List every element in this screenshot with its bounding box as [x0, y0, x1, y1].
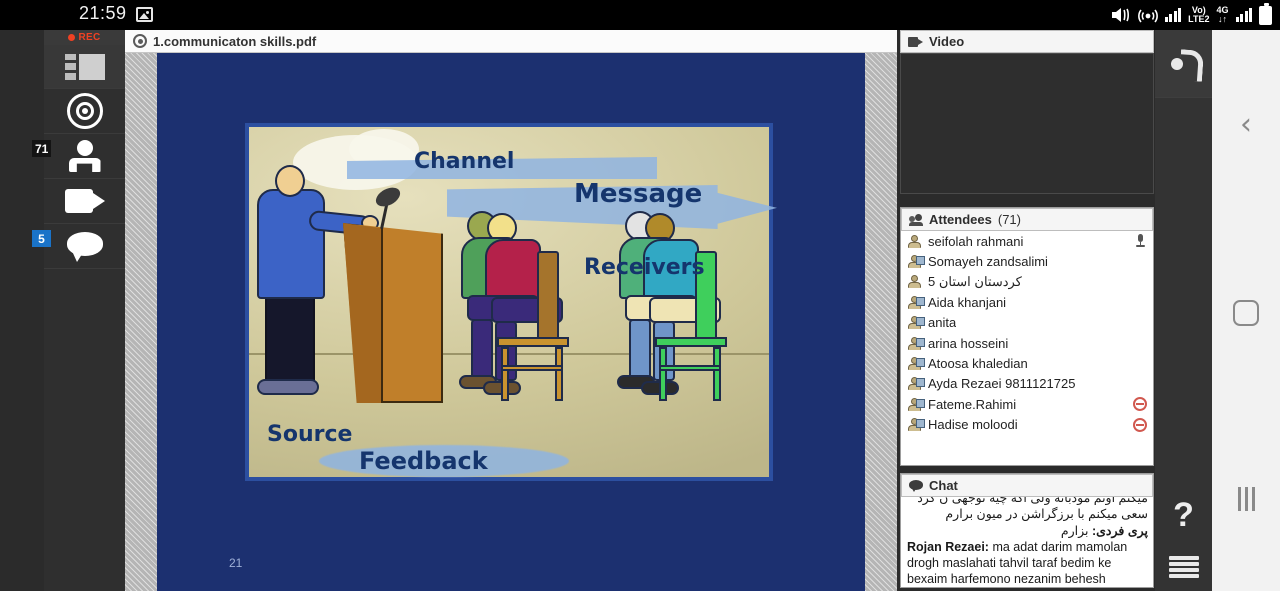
attendee-row[interactable]: arina hosseini	[901, 333, 1153, 353]
chat-messages[interactable]: پری فردی: برای اولین بار با خودش صحبت می…	[901, 497, 1153, 587]
user-webcam-icon	[908, 255, 921, 268]
target-icon	[67, 93, 103, 129]
chat-panel-title: Chat	[929, 478, 958, 493]
presentation-target-icon	[133, 34, 147, 48]
sidebar-item-layout[interactable]	[44, 45, 125, 89]
communication-model-diagram: Channel Message Receivers Source Feedbac…	[245, 123, 773, 481]
attendee-row[interactable]: Fateme.Rahimi	[901, 394, 1153, 414]
attendee-name: arina hosseini	[928, 336, 1008, 351]
hamburger-icon	[1169, 556, 1199, 578]
menu-button[interactable]	[1155, 543, 1212, 591]
right-toolbar: ?	[1155, 30, 1212, 591]
gallery-icon	[136, 7, 153, 22]
chat-bubble-icon	[909, 480, 923, 492]
chat-sender: Rojan Rezaei:	[907, 540, 989, 554]
attendee-row[interactable]: کردستان استان 5	[901, 272, 1153, 292]
record-dot-icon	[68, 34, 75, 41]
chat-sender: پری فردی:	[1092, 524, 1148, 538]
attendee-name: Fateme.Rahimi	[928, 397, 1016, 412]
attendee-name: Atoosa khaledian	[928, 356, 1028, 371]
attendee-name: anita	[928, 315, 956, 330]
mute-deny-icon[interactable]	[1133, 397, 1147, 411]
label-source: Source	[267, 422, 352, 447]
slide-hatch-left	[125, 53, 157, 591]
chat-text: برای اولین بار با خودش صحبت میکنم اونم م…	[917, 497, 1148, 521]
volte-icon: Vo) LTE2	[1188, 6, 1209, 24]
slide-hatch-right	[865, 53, 897, 591]
status-icons: Vo) LTE2 4G ↓↑	[1111, 0, 1272, 30]
help-button[interactable]: ?	[1155, 486, 1212, 543]
people-icon	[909, 214, 923, 226]
attendee-row[interactable]: Somayeh zandsalimi	[901, 251, 1153, 271]
question-mark-icon: ?	[1173, 498, 1194, 532]
attendee-row[interactable]: anita	[901, 313, 1153, 333]
person-icon	[68, 140, 102, 172]
raise-hand-icon	[1169, 50, 1199, 78]
attendee-name: Aida khanjani	[928, 295, 1006, 310]
label-receivers: Receivers	[584, 255, 705, 280]
document-title: 1.communicaton skills.pdf	[153, 34, 316, 49]
user-icon	[908, 235, 921, 248]
user-webcam-icon	[908, 337, 921, 350]
video-camera-icon	[908, 37, 923, 47]
camera-icon	[65, 189, 105, 213]
status-clock: 21:59	[79, 3, 127, 24]
recording-label: REC	[78, 32, 100, 43]
chat-message: پری فردی: برای اولین بار با خودش صحبت می…	[907, 497, 1148, 523]
screen-root: 21:59 Vo) LTE2 4G ↓↑	[0, 0, 1280, 591]
microphone-icon[interactable]	[1134, 234, 1147, 248]
signal-icon	[1165, 8, 1182, 22]
chat-message: Rojan Rezaei: ma adat darim mamolan drog…	[907, 539, 1148, 587]
chat-panel-header: Chat	[901, 474, 1153, 497]
video-feed-area[interactable]	[900, 53, 1154, 194]
signal2-icon	[1236, 8, 1253, 22]
attendee-name: seifolah rahmani	[928, 234, 1023, 249]
android-status-bar: 21:59 Vo) LTE2 4G ↓↑	[0, 0, 1280, 30]
attendee-name: Hadise moloodi	[928, 417, 1018, 432]
chat-panel: Chat پری فردی: برای اولین بار با خودش صح…	[900, 473, 1154, 588]
user-webcam-icon	[908, 316, 921, 329]
attendees-count: (71)	[998, 212, 1021, 227]
video-panel-header: Video	[900, 30, 1154, 53]
attendees-badge: 71	[32, 140, 51, 157]
bbb-app: REC 71 5	[0, 30, 1212, 591]
recording-indicator: REC	[44, 30, 125, 45]
slide-page-number: 21	[229, 556, 242, 570]
video-panel-title: Video	[929, 34, 964, 49]
nav-home-button[interactable]	[1233, 300, 1259, 326]
nav-recents-button[interactable]	[1238, 487, 1255, 511]
network-icon: 4G ↓↑	[1216, 6, 1228, 24]
mute-icon	[1111, 7, 1131, 23]
attendees-panel-header: Attendees (71)	[901, 208, 1153, 231]
chat-icon	[67, 232, 103, 260]
attendee-row[interactable]: seifolah rahmani	[901, 231, 1153, 251]
right-rail-spacer	[1155, 98, 1212, 486]
attendees-panel: Attendees (71) seifolah rahmaniSomayeh z…	[900, 207, 1154, 466]
label-channel: Channel	[414, 149, 514, 174]
attendee-name: Somayeh zandsalimi	[928, 254, 1048, 269]
left-toolbar: REC 71 5	[44, 30, 125, 591]
android-navigation-bar: ‹	[1212, 30, 1280, 591]
label-message: Message	[574, 179, 702, 209]
raise-hand-button[interactable]	[1155, 30, 1212, 98]
battery-icon	[1259, 6, 1272, 25]
label-feedback: Feedback	[359, 447, 488, 475]
nav-back-button[interactable]: ‹	[1240, 110, 1252, 140]
sidebar-item-video[interactable]	[44, 179, 125, 224]
user-webcam-icon	[908, 418, 921, 431]
document-title-bar: 1.communicaton skills.pdf	[125, 30, 897, 53]
sidebar-item-presentation[interactable]	[44, 89, 125, 134]
attendees-panel-title: Attendees	[929, 212, 992, 227]
attendee-row[interactable]: Atoosa khaledian	[901, 353, 1153, 373]
attendee-row[interactable]: Ayda Rezaei 9811121725	[901, 374, 1153, 394]
sidebar-item-chat[interactable]: 5	[44, 224, 125, 269]
slide-canvas[interactable]: Channel Message Receivers Source Feedbac…	[157, 53, 865, 591]
layout-icon	[65, 54, 105, 80]
chat-text: بزارم	[1061, 524, 1092, 538]
user-webcam-icon	[908, 377, 921, 390]
chat-badge: 5	[32, 230, 51, 247]
user-webcam-icon	[908, 398, 921, 411]
sidebar-item-attendees[interactable]: 71	[44, 134, 125, 179]
attendee-name: کردستان استان 5	[928, 274, 1022, 290]
attendee-row[interactable]: Hadise moloodi	[901, 415, 1153, 435]
slide-viewport[interactable]: Channel Message Receivers Source Feedbac…	[125, 53, 897, 591]
presentation-area: 1.communicaton skills.pdf	[125, 30, 897, 591]
sidebar-spacer	[44, 269, 125, 314]
user-icon	[908, 275, 921, 288]
user-webcam-icon	[908, 296, 921, 309]
mute-deny-icon[interactable]	[1133, 418, 1147, 432]
attendees-list[interactable]: seifolah rahmaniSomayeh zandsalimiکردستا…	[901, 231, 1153, 465]
right-panels: Video Attendees (71) seifolah rahmaniSom…	[897, 30, 1155, 591]
attendee-name: Ayda Rezaei 9811121725	[928, 376, 1075, 391]
attendee-row[interactable]: Aida khanjani	[901, 292, 1153, 312]
chat-message: پری فردی: بزارم	[907, 523, 1148, 539]
user-webcam-icon	[908, 357, 921, 370]
hotspot-icon	[1138, 6, 1158, 24]
